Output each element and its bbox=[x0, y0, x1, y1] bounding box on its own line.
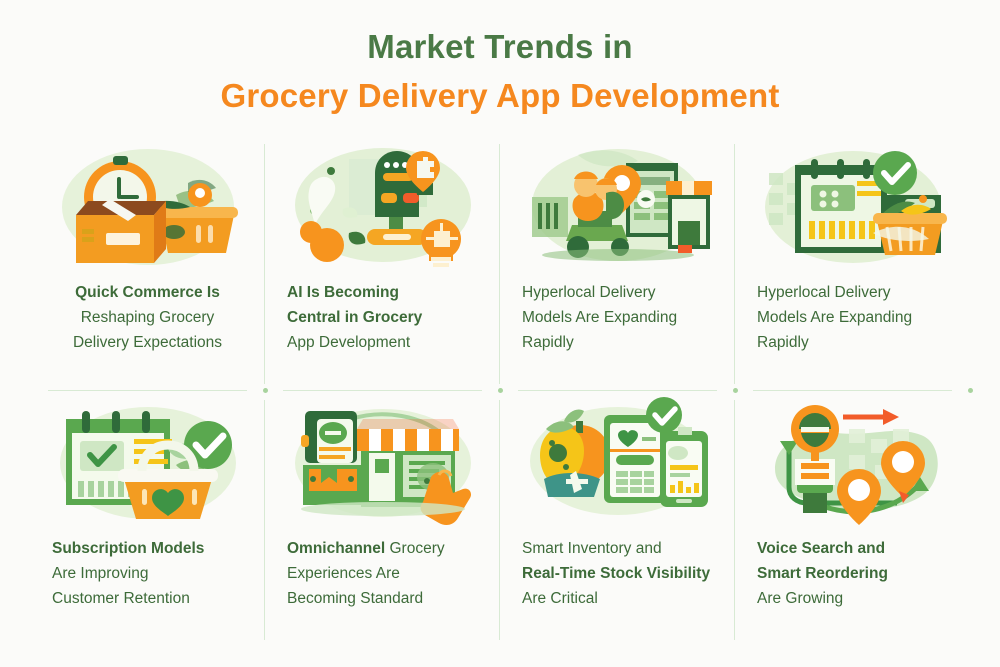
caption-line-2: Central in Grocery bbox=[287, 305, 486, 330]
caption-line-2: Models Are Expanding bbox=[522, 305, 721, 330]
trend-card-ai-central[interactable]: AI Is Becoming Central in Grocery App De… bbox=[265, 136, 500, 392]
caption-line-1: Smart Inventory and bbox=[522, 536, 721, 561]
trend-card-subscription-models[interactable]: Subscription Models Are Improving Custom… bbox=[30, 392, 265, 648]
title-line-primary: Market Trends in bbox=[0, 26, 1000, 67]
infographic-page: Market Trends in Grocery Delivery App De… bbox=[0, 0, 1000, 667]
caption-line-2: Reshaping Grocery bbox=[44, 305, 251, 330]
caption-line-3: Are Growing bbox=[757, 586, 956, 611]
produce-tablet-phone-stock-icon bbox=[514, 392, 721, 530]
caption-line-2: Are Improving bbox=[52, 561, 251, 586]
card-caption: Hyperlocal Delivery Models Are Expanding… bbox=[749, 280, 956, 355]
caption-line-1: Quick Commerce Is bbox=[44, 280, 251, 305]
trend-card-smart-inventory[interactable]: Smart Inventory and Real-Time Stock Visi… bbox=[500, 392, 735, 648]
storefront-awning-tap-hand-icon bbox=[279, 392, 486, 530]
caption-line-3: Are Critical bbox=[522, 586, 721, 611]
card-caption: Omnichannel Grocery Experiences Are Beco… bbox=[279, 536, 486, 611]
card-caption: Smart Inventory and Real-Time Stock Visi… bbox=[514, 536, 721, 611]
divider-dot bbox=[968, 388, 973, 393]
caption-line-3: Rapidly bbox=[522, 330, 721, 355]
card-caption: Subscription Models Are Improving Custom… bbox=[44, 536, 251, 611]
caption-regular-part: Grocery bbox=[390, 540, 445, 557]
caption-line-1: Subscription Models bbox=[52, 536, 251, 561]
trend-card-quick-commerce[interactable]: Quick Commerce Is Reshaping Grocery Deli… bbox=[30, 136, 265, 392]
calendar-check-basket-heart-icon bbox=[44, 392, 251, 530]
trend-card-hyperlocal-delivery-1[interactable]: Hyperlocal Delivery Models Are Expanding… bbox=[500, 136, 735, 392]
caption-line-2: Models Are Expanding bbox=[757, 305, 956, 330]
title-line-secondary: Grocery Delivery App Development bbox=[0, 75, 1000, 116]
trend-card-omnichannel[interactable]: Omnichannel Grocery Experiences Are Beco… bbox=[265, 392, 500, 648]
caption-line-3: Delivery Expectations bbox=[44, 330, 251, 355]
ai-robot-lightbulb-icon bbox=[279, 136, 486, 274]
card-caption: AI Is Becoming Central in Grocery App De… bbox=[279, 280, 486, 355]
caption-line-1: Hyperlocal Delivery bbox=[522, 280, 721, 305]
caption-line-3: Rapidly bbox=[757, 330, 956, 355]
caption-bold-part: Omnichannel bbox=[287, 540, 390, 557]
caption-line-1: Hyperlocal Delivery bbox=[757, 280, 956, 305]
voice-assistant-map-route-icon bbox=[749, 392, 956, 530]
caption-line-2: Smart Reordering bbox=[757, 561, 956, 586]
caption-line-3: Customer Retention bbox=[52, 586, 251, 611]
calendar-checkmark-basket-icon bbox=[749, 136, 956, 274]
caption-line-2: Experiences Are bbox=[287, 561, 486, 586]
trend-card-voice-search[interactable]: Voice Search and Smart Reordering Are Gr… bbox=[735, 392, 970, 648]
stopwatch-box-basket-icon bbox=[44, 136, 251, 274]
card-caption: Quick Commerce Is Reshaping Grocery Deli… bbox=[44, 280, 251, 355]
trend-card-hyperlocal-delivery-2[interactable]: Hyperlocal Delivery Models Are Expanding… bbox=[735, 136, 970, 392]
trend-card-grid: Quick Commerce Is Reshaping Grocery Deli… bbox=[30, 136, 970, 648]
caption-line-3: Becoming Standard bbox=[287, 586, 486, 611]
scooter-courier-map-pin-icon bbox=[514, 136, 721, 274]
caption-line-1: AI Is Becoming bbox=[287, 280, 486, 305]
card-caption: Voice Search and Smart Reordering Are Gr… bbox=[749, 536, 956, 611]
caption-line-3: App Development bbox=[287, 330, 486, 355]
page-title: Market Trends in Grocery Delivery App De… bbox=[0, 0, 1000, 117]
caption-line-2: Real-Time Stock Visibility bbox=[522, 561, 721, 586]
caption-line-1: Voice Search and bbox=[757, 536, 956, 561]
card-caption: Hyperlocal Delivery Models Are Expanding… bbox=[514, 280, 721, 355]
caption-line-1: Omnichannel Grocery bbox=[287, 536, 486, 561]
